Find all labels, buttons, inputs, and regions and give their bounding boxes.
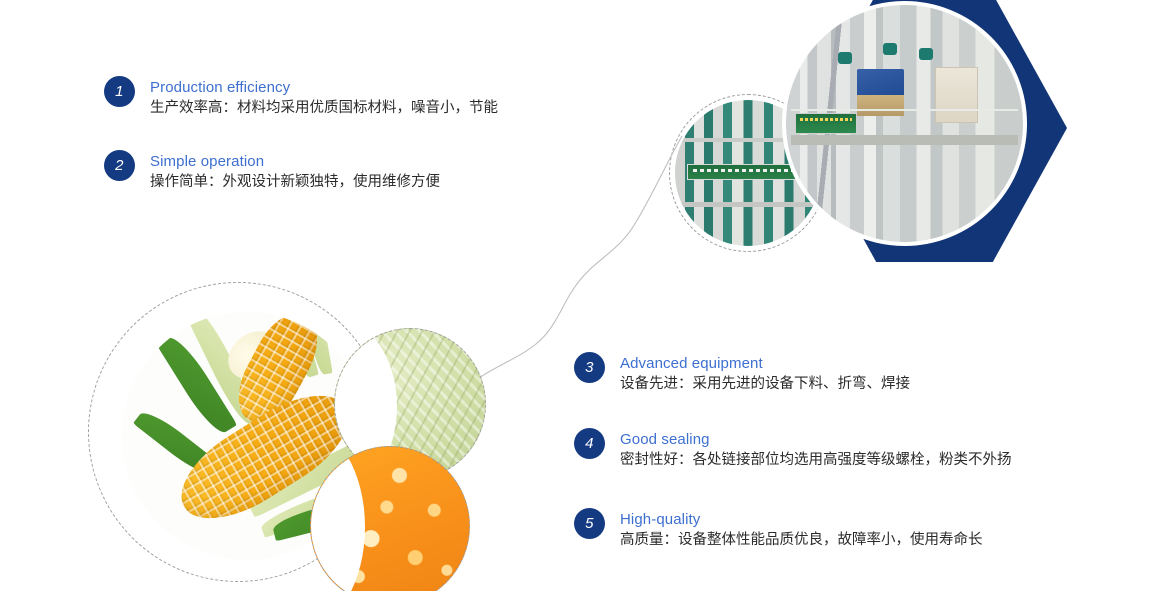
feature-description: 密封性好：各处链接部位均选用高强度等级螺栓，粉类不外扬 [620, 450, 1012, 471]
feature-item-5: 5 High-quality 高质量：设备整体性能品质优良，故障率小，使用寿命长 [574, 508, 983, 551]
factory-fan-motor [838, 52, 852, 64]
feature-number-badge: 2 [104, 150, 135, 181]
feature-number-badge: 5 [574, 508, 605, 539]
feature-description: 高质量：设备整体性能品质优良，故障率小，使用寿命长 [620, 530, 983, 551]
feature-description: 设备先进：采用先进的设备下料、折弯、焊接 [620, 374, 910, 395]
flour-milling-plant-photo [782, 1, 1027, 246]
feature-title: Simple operation [150, 152, 440, 171]
factory-fan-motor [883, 43, 897, 55]
feature-number-badge: 4 [574, 428, 605, 459]
feature-title: Advanced equipment [620, 354, 910, 373]
feature-number-badge: 3 [574, 352, 605, 383]
factory-fan-motor [919, 48, 933, 60]
feature-item-3: 3 Advanced equipment 设备先进：采用先进的设备下料、折弯、焊… [574, 352, 910, 395]
feature-title: Production efficiency [150, 78, 498, 97]
feature-text-block: Production efficiency 生产效率高：材料均采用优质国标材料，… [150, 76, 498, 119]
feature-title: High-quality [620, 510, 983, 529]
feature-description: 生产效率高：材料均采用优质国标材料，噪音小，节能 [150, 98, 498, 119]
corn-image-cluster [88, 282, 488, 591]
feature-description: 操作简单：外观设计新颖独特，使用维修方便 [150, 172, 440, 193]
grits-photo-mask [310, 446, 365, 591]
machinery-beam-bottom [675, 202, 821, 206]
feature-text-block: High-quality 高质量：设备整体性能品质优良，故障率小，使用寿命长 [620, 508, 983, 551]
promo-feature-graphic: 1 Production efficiency 生产效率高：材料均采用优质国标材… [0, 0, 1154, 591]
top-right-image-cluster [655, 0, 1075, 274]
feature-item-2: 2 Simple operation 操作简单：外观设计新颖独特，使用维修方便 [104, 150, 440, 193]
feature-number-badge: 1 [104, 76, 135, 107]
feature-text-block: Advanced equipment 设备先进：采用先进的设备下料、折弯、焊接 [620, 352, 910, 395]
feature-item-1: 1 Production efficiency 生产效率高：材料均采用优质国标材… [104, 76, 498, 119]
feature-text-block: Simple operation 操作简单：外观设计新颖独特，使用维修方便 [150, 150, 440, 193]
feature-item-4: 4 Good sealing 密封性好：各处链接部位均选用高强度等级螺栓，粉类不… [574, 428, 1012, 471]
factory-banner-sign [795, 113, 857, 134]
machinery-banner-sign [687, 164, 801, 180]
feature-text-block: Good sealing 密封性好：各处链接部位均选用高强度等级螺栓，粉类不外扬 [620, 428, 1012, 471]
feature-title: Good sealing [620, 430, 1012, 449]
factory-platform-deck [791, 135, 1019, 144]
